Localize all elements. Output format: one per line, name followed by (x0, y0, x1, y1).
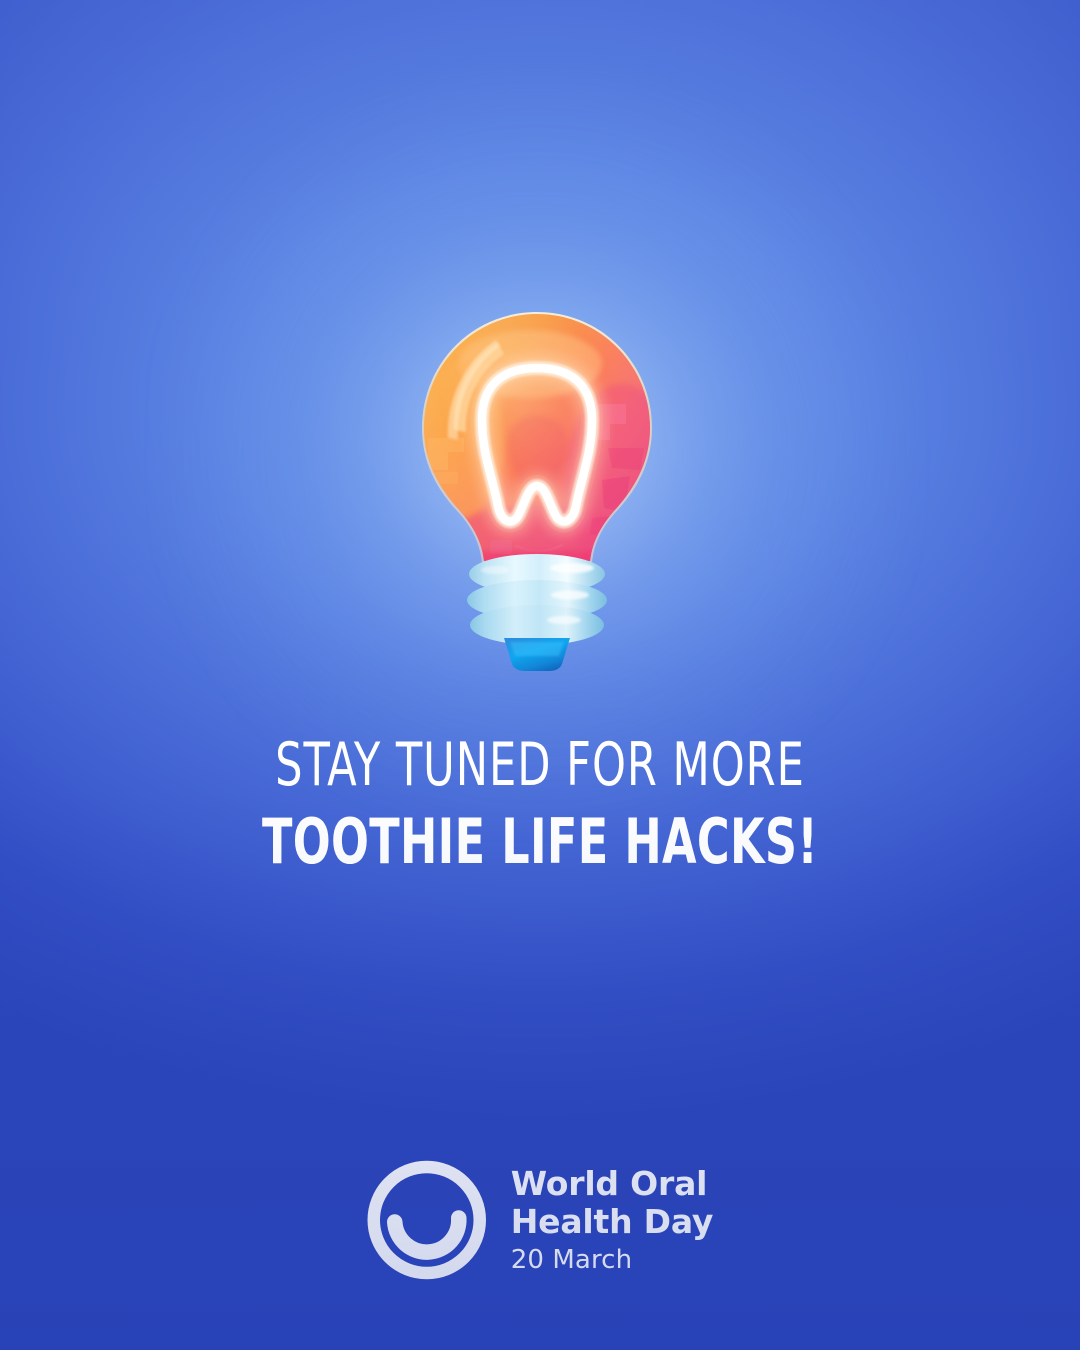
logo-date: 20 March (511, 1246, 714, 1275)
world-oral-health-day-logo: World Oral Health Day 20 March (367, 1160, 714, 1280)
smile-ring-icon (367, 1160, 487, 1280)
headline-line-2: TOOTHIE LIFE HACKS! (108, 811, 972, 873)
headline-block: STAY TUNED FOR MORE TOOTHIE LIFE HACKS! (0, 735, 1080, 873)
logo-text-block: World Oral Health Day 20 March (511, 1165, 714, 1274)
poster-canvas: STAY TUNED FOR MORE TOOTHIE LIFE HACKS! … (0, 0, 1080, 1350)
bulb-screw-base (467, 554, 607, 671)
headline-line-1: STAY TUNED FOR MORE (108, 735, 972, 795)
logo-title-line-2: Health Day (511, 1203, 714, 1240)
logo-title-line-1: World Oral (511, 1165, 714, 1202)
neon-tooth-lightbulb-illustration (412, 312, 662, 672)
